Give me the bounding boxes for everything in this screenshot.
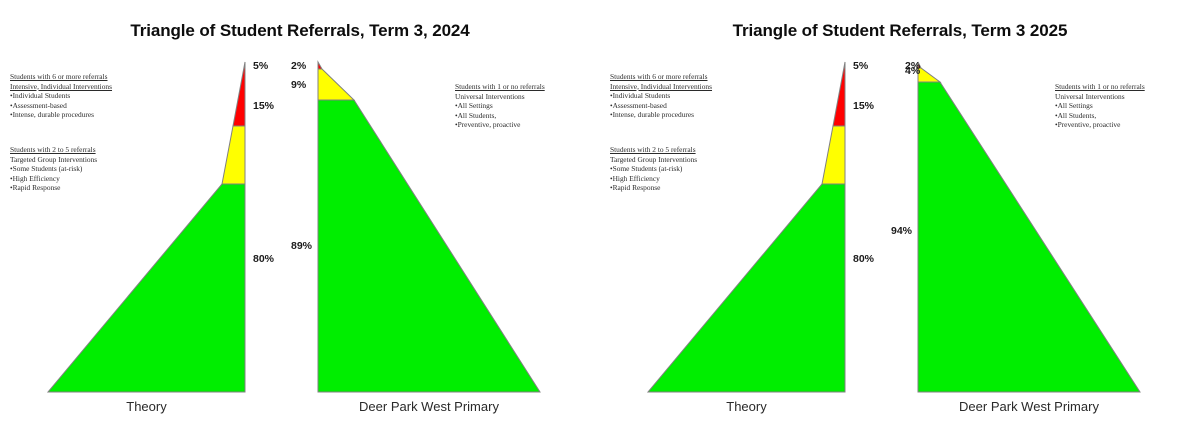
triangle-theory [46, 60, 247, 394]
theory-pct-top: 5% [853, 60, 868, 72]
theory-pct-bottom: 80% [253, 253, 274, 265]
deer-park-pct-bottom: 94% [891, 225, 912, 237]
tier2-yellow-band [822, 126, 845, 184]
tier3-red-apex [233, 62, 245, 126]
deer-park-pct-middle: 9% [291, 79, 306, 91]
referral-triangles-figure: Triangle of Student Referrals, Term 3, 2… [0, 0, 1200, 441]
theory-base-label: Theory [646, 399, 847, 414]
triangle-deer-park-west-primary [916, 60, 1142, 394]
panel-term3-2024: Triangle of Student Referrals, Term 3, 2… [0, 0, 600, 441]
tier1-green-base [48, 184, 245, 392]
deer-park-pct-bottom: 89% [291, 240, 312, 252]
deer-park-pct-top: 2% [291, 60, 306, 72]
theory-pct-middle: 15% [253, 100, 274, 112]
tier3-red-apex [833, 62, 845, 126]
tier2-yellow-band [918, 68, 940, 82]
page-title: Triangle of Student Referrals, Term 3 20… [600, 21, 1200, 41]
theory-pct-bottom: 80% [853, 253, 874, 265]
theory-pct-middle: 15% [853, 100, 874, 112]
deer-park-base-label: Deer Park West Primary [316, 399, 542, 414]
page-title: Triangle of Student Referrals, Term 3, 2… [0, 21, 600, 41]
tier2-yellow-band [222, 126, 245, 184]
theory-base-label: Theory [46, 399, 247, 414]
tier2-yellow-band [318, 69, 354, 100]
panel-term3-2025: Triangle of Student Referrals, Term 3 20… [600, 0, 1200, 441]
deer-park-pct-middle: 4% [905, 65, 920, 77]
tier1-green-base [648, 184, 845, 392]
tier1-green-base [918, 82, 1140, 392]
tier1-green-base [318, 100, 540, 392]
triangle-deer-park-west-primary [316, 60, 542, 394]
triangle-theory [646, 60, 847, 394]
tier3-red-apex [318, 62, 322, 69]
deer-park-base-label: Deer Park West Primary [916, 399, 1142, 414]
theory-pct-top: 5% [253, 60, 268, 72]
